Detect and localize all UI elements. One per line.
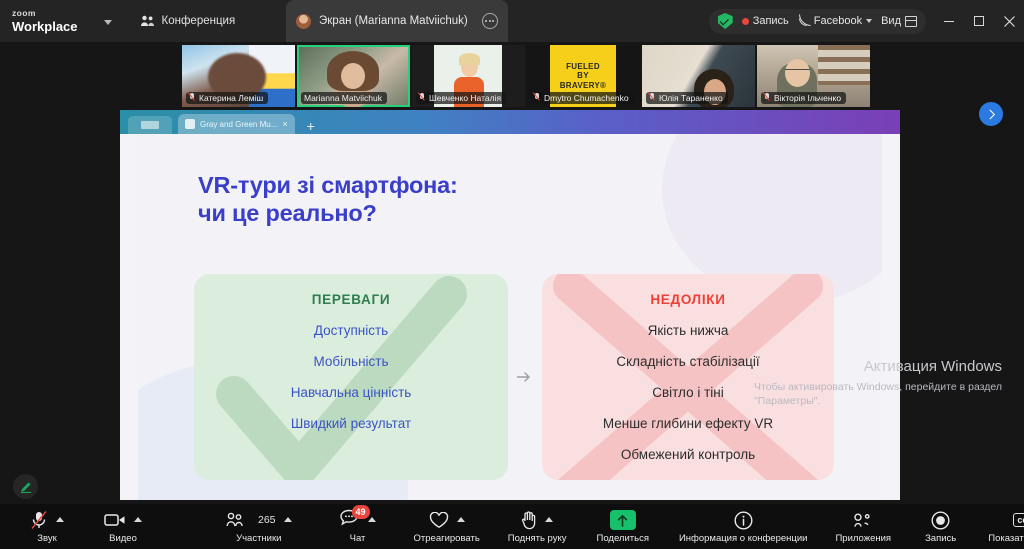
people-icon (140, 15, 155, 27)
audio-button[interactable]: Звук (26, 504, 68, 549)
participant-name-tag: Dmytro Chumachenko (531, 92, 634, 104)
captions-button[interactable]: cc Показать субтитры (984, 504, 1024, 549)
audio-button-label: Звук (37, 533, 56, 544)
list-item: Навчальна цінність (208, 385, 494, 400)
windows-activation-title: Активация Windows (864, 358, 1002, 375)
screen-share-tab-label: Экран (Marianna Matviichuk) (319, 15, 468, 27)
arrow-right-icon (517, 371, 533, 383)
participants-icon (226, 512, 246, 528)
close-tab-icon[interactable]: × (282, 120, 287, 129)
video-options-chevron-icon[interactable] (134, 517, 142, 522)
filmstrip-next-arrow-icon[interactable] (979, 102, 1003, 126)
new-tab-icon[interactable]: + (307, 119, 315, 133)
zoom-logo: zoom Workplace (12, 9, 78, 33)
chat-button-label: Чат (350, 533, 366, 544)
microphone-muted-icon (30, 510, 48, 530)
participant-name-tag: Юлія Тараненко (646, 92, 728, 104)
participant-name-tag: Катерина Леміш (186, 92, 268, 104)
facebook-stream[interactable]: Facebook (798, 15, 872, 27)
upload-arrow-icon (617, 514, 628, 527)
camera-icon (104, 512, 126, 528)
screen-share-tab[interactable]: Экран (Marianna Matviichuk) (286, 0, 508, 42)
list-item: Мобільність (208, 354, 494, 369)
meeting-toolbar: Звук Видео 265 (0, 504, 1024, 549)
brand-workplace-text: Workplace (12, 20, 78, 33)
video-tiles: Катерина Леміш Marianna Matviichuk Шевче (182, 45, 870, 107)
mic-muted-icon (534, 93, 541, 103)
annotate-button[interactable] (13, 474, 38, 499)
participants-options-chevron-icon[interactable] (284, 517, 292, 522)
list-item: Менше глибини ефекту VR (556, 416, 820, 431)
record-dot-icon (742, 18, 749, 25)
slide-title-line-1: VR-тури зі смартфона: (198, 172, 458, 200)
brand-chevron-down-icon[interactable] (104, 20, 112, 25)
arrow-separator (508, 274, 542, 480)
chat-options-chevron-icon[interactable] (368, 517, 376, 522)
video-tile[interactable]: Шевченко Наталія (412, 45, 525, 107)
view-control[interactable]: Вид (881, 15, 917, 27)
favicon-icon (185, 119, 195, 129)
list-item: Якість нижча (556, 323, 820, 338)
record-button[interactable]: Запись (921, 504, 960, 549)
video-tile[interactable]: Вікторія Ільченко (757, 45, 870, 107)
video-tile[interactable]: FUELEDBYBRAVERY® Dmytro Chumachenko (527, 45, 640, 107)
maximize-icon (973, 15, 985, 27)
cons-card: НЕДОЛІКИ Якість нижча Складність стабілі… (542, 274, 834, 480)
audio-options-chevron-icon[interactable] (56, 517, 64, 522)
video-button[interactable]: Видео (100, 504, 146, 549)
participant-name: Юлія Тараненко (659, 93, 723, 103)
heart-icon (429, 512, 449, 529)
captions-button-label: Показать субтитры (988, 533, 1024, 544)
reactions-button-label: Отреагировать (414, 533, 480, 544)
video-tile[interactable]: Юлія Тараненко (642, 45, 755, 107)
browser-tab-bar: Gray and Green Mu... × + (120, 110, 900, 134)
list-item: Доступність (208, 323, 494, 338)
record-button-label: Запись (925, 533, 956, 544)
raise-hand-options-chevron-icon[interactable] (545, 517, 553, 522)
title-bar-right: Запись Facebook Вид (709, 0, 1024, 42)
mic-muted-icon (189, 93, 196, 103)
conference-tab-label: Конференция (162, 15, 236, 27)
apps-button[interactable]: Приложения (831, 504, 895, 549)
meeting-info-button-label: Информация о конференции (679, 533, 808, 544)
record-label: Запись (753, 15, 789, 27)
recording-status[interactable]: Запись (742, 15, 789, 27)
brand-zoom-text: zoom (12, 9, 78, 18)
facebook-label: Facebook (814, 15, 862, 27)
participant-filmstrip: Катерина Леміш Marianna Matviichuk Шевче (0, 42, 1024, 110)
windows-activation-line2: Чтобы активировать Windows, перейдите в … (754, 381, 1002, 393)
close-button[interactable] (994, 0, 1024, 42)
conference-tab[interactable]: Конференция (140, 15, 236, 27)
browser-tab-title: Gray and Green Mu... (200, 120, 277, 129)
close-icon (1003, 15, 1016, 28)
participants-button[interactable]: 265 Участники (222, 504, 296, 549)
more-options-icon[interactable] (482, 13, 498, 29)
video-tile[interactable]: Катерина Леміш (182, 45, 295, 107)
browser-window-badge (128, 116, 172, 134)
share-screen-button[interactable]: Поделиться (593, 504, 653, 549)
reactions-options-chevron-icon[interactable] (457, 517, 465, 522)
video-button-label: Видео (109, 533, 137, 544)
raise-hand-button[interactable]: Поднять руку (504, 504, 571, 549)
cons-heading: НЕДОЛІКИ (556, 292, 820, 307)
chat-unread-badge: 49 (352, 505, 370, 519)
participant-name: Marianna Matviichuk (304, 93, 382, 103)
windows-activation-line3: "Параметры". (754, 395, 820, 407)
list-item: Складність стабілізації (556, 354, 820, 369)
share-screen-icon (610, 510, 636, 530)
video-tile-active[interactable]: Marianna Matviichuk (297, 45, 410, 107)
maximize-button[interactable] (964, 0, 994, 42)
apps-button-label: Приложения (835, 533, 891, 544)
page-title: VR-тури зі смартфона: чи це реально? (198, 172, 458, 227)
record-icon (931, 511, 950, 530)
title-bar: zoom Workplace Конференция Экран (Marian… (0, 0, 1024, 42)
windows-activation-text: Чтобы активировать Windows, перейдите в … (754, 380, 1002, 408)
closed-captions-icon: cc (1013, 513, 1024, 527)
reactions-button[interactable]: Отреагировать (410, 504, 484, 549)
raise-hand-button-label: Поднять руку (508, 533, 567, 544)
mic-muted-icon (419, 93, 426, 103)
minimize-icon (943, 15, 955, 27)
chat-button[interactable]: 49 Чат (336, 504, 380, 549)
participant-name-tag: Marianna Matviichuk (301, 92, 387, 104)
list-item: Швидкий результат (208, 416, 494, 431)
participant-name-tag: Шевченко Наталія (416, 92, 506, 104)
pros-heading: ПЕРЕВАГИ (208, 292, 494, 307)
mic-muted-icon (764, 93, 771, 103)
pros-list: Доступність Мобільність Навчальна цінніс… (208, 323, 494, 431)
slide-title-line-2: чи це реально? (198, 200, 458, 228)
info-icon (734, 511, 753, 530)
share-screen-button-label: Поделиться (597, 533, 649, 544)
list-item: Обмежений контроль (556, 447, 820, 462)
pros-card: ПЕРЕВАГИ Доступність Мобільність Навчаль… (194, 274, 508, 480)
pencil-icon (19, 480, 33, 494)
participants-button-label: Участники (236, 533, 281, 544)
avatar (296, 14, 311, 29)
participant-name: Вікторія Ільченко (774, 93, 841, 103)
participant-name: Dmytro Chumachenko (544, 93, 629, 103)
broadcast-icon (798, 15, 810, 27)
participants-count: 265 (258, 514, 276, 526)
participant-name-tag: Вікторія Ільченко (761, 92, 846, 104)
minimize-button[interactable] (934, 0, 964, 42)
shared-screen: Gray and Green Mu... × + VR-тури зі смар… (120, 110, 900, 500)
participant-name: Шевченко Наталія (429, 93, 501, 103)
raise-hand-icon (521, 511, 537, 530)
shield-icon[interactable] (718, 13, 733, 29)
meeting-info-button[interactable]: Информация о конференции (675, 504, 812, 549)
comparison-cards: ПЕРЕВАГИ Доступність Мобільність Навчаль… (194, 274, 834, 480)
presentation-slide: VR-тури зі смартфона: чи це реально? ПЕР… (138, 134, 882, 500)
mic-muted-icon (649, 93, 656, 103)
browser-tab[interactable]: Gray and Green Mu... × (178, 114, 295, 134)
zoom-meeting-window: zoom Workplace Конференция Экран (Marian… (0, 0, 1024, 549)
grid-icon (905, 16, 917, 27)
chevron-down-icon[interactable] (866, 19, 872, 23)
view-label: Вид (881, 15, 901, 27)
participant-name: Катерина Леміш (199, 93, 263, 103)
status-pill: Запись Facebook Вид (709, 9, 926, 34)
apps-icon (853, 513, 873, 528)
